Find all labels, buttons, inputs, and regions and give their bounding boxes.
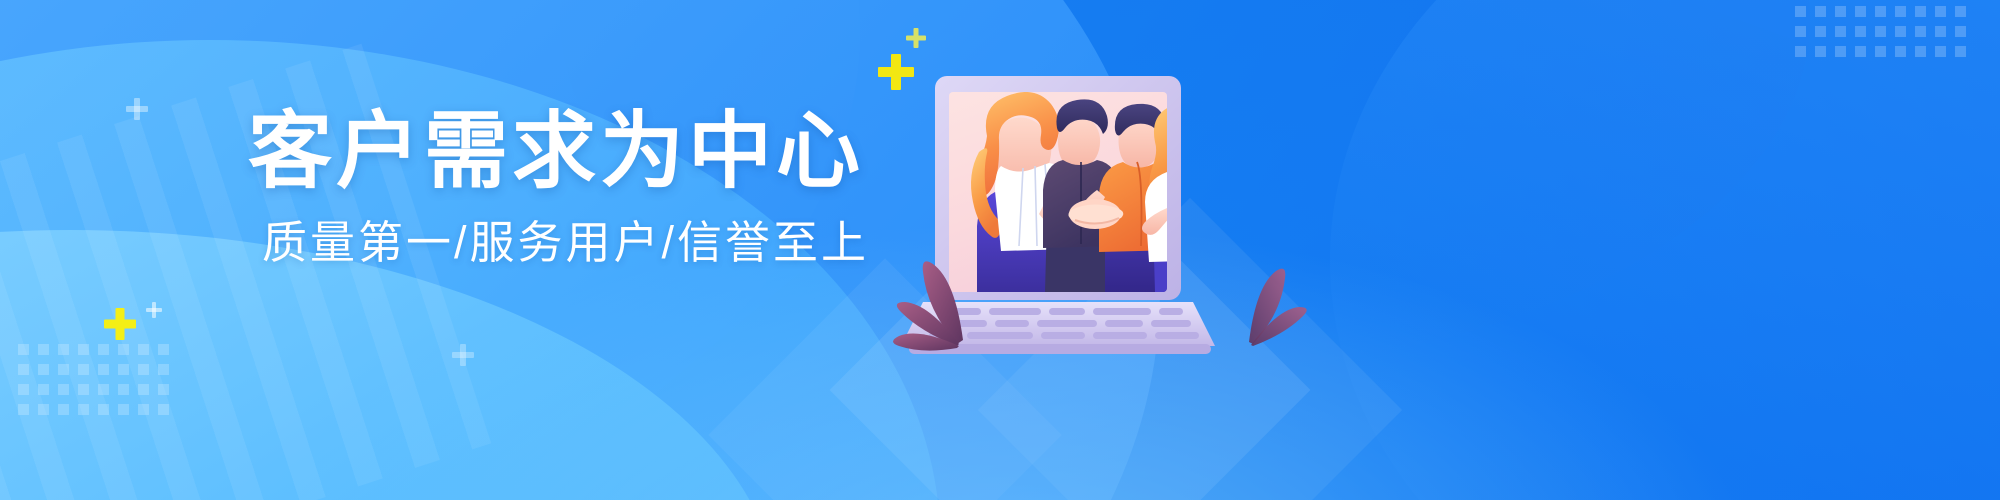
plus-icon-white-small [146,302,162,318]
headline: 客户需求为中心 [248,108,868,195]
leaf-decor-right [1249,269,1307,346]
team-huddle-scene [971,92,1227,292]
laptop-illustration [905,56,1305,356]
background-wave-right [1330,0,2000,500]
subheadline: 质量第一/服务用户/信誉至上 [262,217,868,269]
plus-icon-yellow-bottom-left [104,308,136,340]
plus-icon-white-lower-left [452,344,474,366]
plus-icon-white-upper-left [126,98,148,120]
dot-grid-bottom-left [18,344,169,415]
dot-grid-top-right [1795,6,1966,57]
promo-banner: 客户需求为中心 质量第一/服务用户/信誉至上 [0,0,2000,500]
copy-block: 客户需求为中心 质量第一/服务用户/信誉至上 [248,108,868,269]
plus-icon-yellow-small [906,28,926,48]
person-woman-right [1142,102,1227,292]
